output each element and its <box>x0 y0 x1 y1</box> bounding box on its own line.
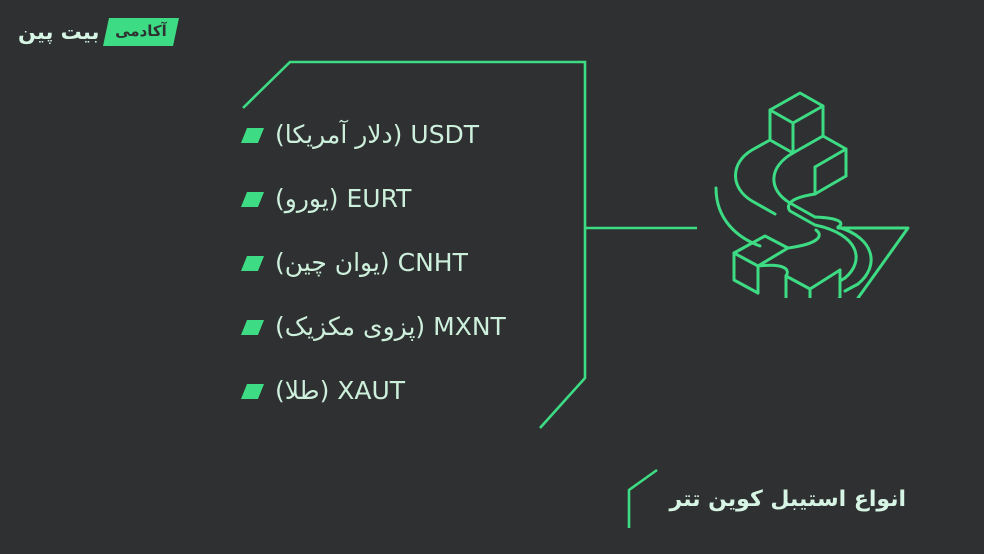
list-item-label: EURT (یورو) <box>275 185 411 213</box>
list-item[interactable]: CNHT (یوان چین) <box>244 231 564 295</box>
list-item[interactable]: USDT (دلار آمریکا) <box>244 103 564 167</box>
caption-block: انواع استیبل کوین تتر <box>670 489 906 511</box>
caption-label: انواع استیبل کوین تتر <box>670 489 906 511</box>
brand-logo: آکادمی بیت پین <box>18 18 176 46</box>
parallelogram-bullet-icon <box>241 192 264 207</box>
isometric-dollar-sign-icon <box>690 48 930 298</box>
angular-caption-mark <box>624 468 664 530</box>
parallelogram-bullet-icon <box>241 320 264 335</box>
stablecoin-list: USDT (دلار آمریکا) EURT (یورو) CNHT (یوا… <box>244 103 564 423</box>
list-item[interactable]: XAUT (طلا) <box>244 359 564 423</box>
brand-name-label: بیت پین <box>18 22 99 43</box>
infographic-canvas: آکادمی بیت پین USDT (دلار آمریکا) EURT (… <box>0 0 984 554</box>
academy-badge-label: آکادمی <box>115 24 167 39</box>
list-item-label: XAUT (طلا) <box>275 377 405 405</box>
parallelogram-bullet-icon <box>241 384 264 399</box>
parallelogram-bullet-icon <box>241 128 264 143</box>
academy-badge: آکادمی <box>103 18 179 46</box>
parallelogram-bullet-icon <box>241 256 264 271</box>
list-item-label: USDT (دلار آمریکا) <box>275 121 479 149</box>
caption-mark-path <box>629 470 657 528</box>
list-item-label: MXNT (پزوی مکزیک) <box>275 313 506 341</box>
list-item[interactable]: EURT (یورو) <box>244 167 564 231</box>
list-item[interactable]: MXNT (پزوی مکزیک) <box>244 295 564 359</box>
list-item-label: CNHT (یوان چین) <box>275 249 468 277</box>
